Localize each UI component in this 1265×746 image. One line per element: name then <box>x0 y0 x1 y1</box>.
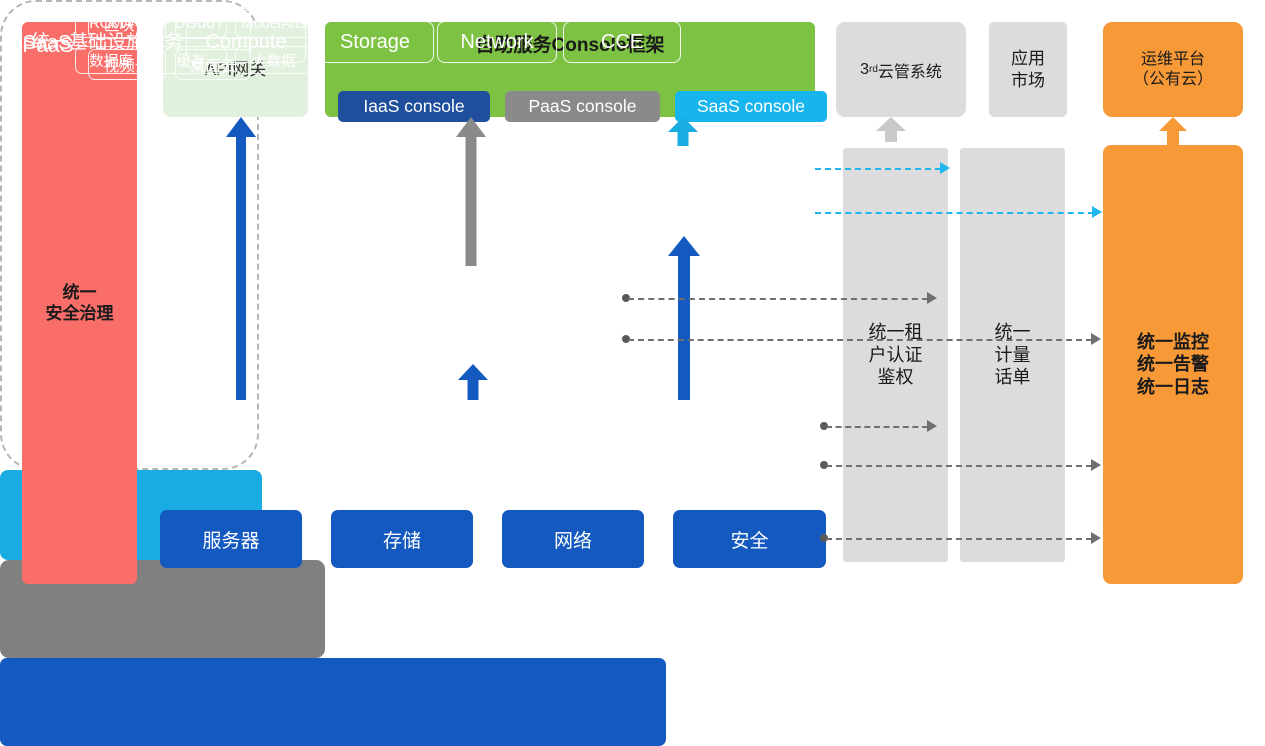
unified-infrastructure-block: 统一基础设施服务 Compute Storage Network CCE <box>0 658 666 746</box>
arrow-saas-to-console <box>668 117 698 146</box>
dashed-paas-to-auth <box>628 298 928 300</box>
dashed-paas-to-ops <box>628 339 1092 341</box>
arrowhead-saas-to-auth <box>940 162 950 174</box>
arrowhead-resource-to-ops <box>1091 532 1101 544</box>
paas-console-pill[interactable]: PaaS console <box>505 91 660 122</box>
dashed-infra-to-ops <box>826 465 1092 467</box>
arrowhead-saas-to-ops <box>1092 206 1102 218</box>
resource-storage-block: 存储 <box>331 510 473 568</box>
resource-security-block: 安全 <box>673 510 826 568</box>
third-party-cloud-management-block: 3rd云管系统 <box>836 22 966 117</box>
dashed-saas-to-ops <box>815 212 1094 214</box>
dashed-resource-to-ops <box>826 538 1092 540</box>
third-cloud-suffix: 云管系统 <box>878 58 942 82</box>
app-market-block: 应用 市场 <box>989 22 1067 117</box>
infra-service-cce[interactable]: CCE <box>563 21 681 63</box>
infra-service-network[interactable]: Network <box>437 21 557 63</box>
arrow-ops-core-to-platform <box>1158 117 1188 145</box>
arrow-paas-to-console <box>456 117 486 266</box>
resource-network-block: 网络 <box>502 510 644 568</box>
resource-server-block: 服务器 <box>160 510 302 568</box>
arrowhead-infra-to-auth <box>927 420 937 432</box>
arrow-infra-to-saas <box>668 236 700 400</box>
third-cloud-prefix: 3 <box>860 61 869 79</box>
arrowhead-infra-to-ops <box>1091 459 1101 471</box>
unified-security-governance-block: 统一 安全治理 <box>22 22 137 584</box>
dashed-saas-to-auth <box>815 168 941 170</box>
architecture-diagram: 统一 安全治理 API网关 自助服务Console框架 IaaS console… <box>0 0 1265 605</box>
dashed-infra-to-auth <box>826 426 928 428</box>
unified-tenant-auth-column: 统一租 户认证 鉴权 <box>843 148 948 562</box>
unified-metering-column: 统一 计量 话单 <box>960 148 1065 562</box>
infra-service-storage[interactable]: Storage <box>316 21 434 63</box>
infra-service-compute[interactable]: Compute <box>186 21 306 63</box>
arrow-infra-to-paas <box>458 364 488 400</box>
ops-monitoring-block: 统一监控 统一告警 统一日志 <box>1103 145 1243 584</box>
ops-platform-block: 运维平台 （公有云） <box>1103 22 1243 117</box>
unified-infrastructure-label: 统一基础设施服务 <box>12 27 202 54</box>
arrow-infra-to-api-gateway <box>226 117 256 400</box>
arrowhead-paas-to-ops <box>1091 333 1101 345</box>
arrow-shared-to-third-cloud <box>876 117 906 142</box>
third-cloud-superscript: rd <box>869 64 878 75</box>
arrowhead-paas-to-auth <box>927 292 937 304</box>
